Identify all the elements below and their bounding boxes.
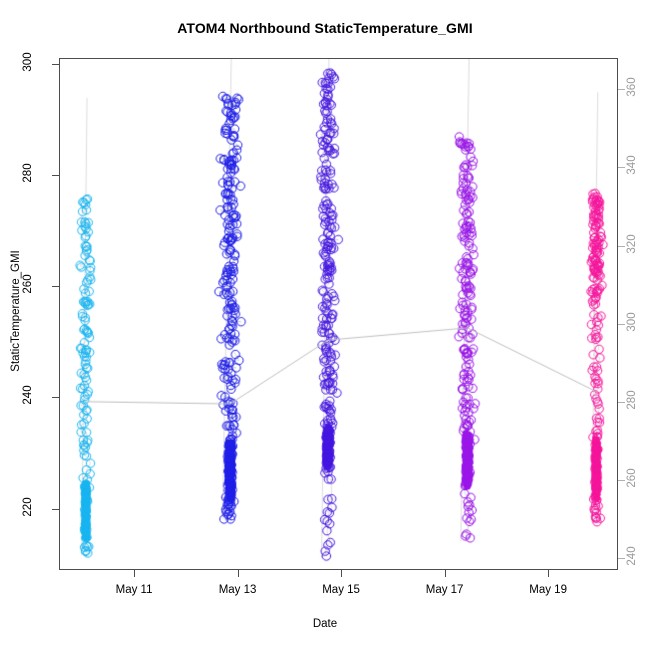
y-axis-title: StaticTemperature_GMI: [10, 211, 22, 411]
y-tick-mark-right: [618, 246, 625, 247]
y-tick-mark-right: [618, 89, 625, 90]
y-tick-mark-right: [618, 402, 625, 403]
y-tick-mark-right: [618, 480, 625, 481]
x-tick-label: May 13: [208, 584, 268, 596]
x-tick-mark: [445, 570, 446, 577]
x-tick-mark: [238, 570, 239, 577]
chart-root: ATOM4 Northbound StaticTemperature_GMI D…: [0, 0, 650, 650]
y-tick-label-right: 360: [626, 67, 638, 107]
chart-title: ATOM4 Northbound StaticTemperature_GMI: [0, 20, 650, 36]
y-tick-label: 300: [22, 42, 34, 82]
y-tick-mark: [52, 509, 59, 510]
y-tick-mark-right: [618, 167, 625, 168]
scatter-plot-canvas: [60, 59, 617, 569]
y-tick-label-right: 240: [626, 536, 638, 576]
y-tick-label-right: 300: [626, 302, 638, 342]
x-axis-title: Date: [0, 618, 650, 630]
y-tick-label: 280: [22, 153, 34, 193]
y-tick-label-right: 340: [626, 145, 638, 185]
x-tick-label: May 19: [518, 584, 578, 596]
x-tick-label: May 15: [311, 584, 371, 596]
y-tick-mark: [52, 175, 59, 176]
x-tick-mark: [548, 570, 549, 577]
y-tick-label: 240: [22, 375, 34, 415]
y-tick-mark: [52, 286, 59, 287]
y-tick-label: 260: [22, 264, 34, 304]
y-tick-label: 220: [22, 487, 34, 527]
y-tick-label-right: 320: [626, 224, 638, 264]
y-tick-mark-right: [618, 558, 625, 559]
x-tick-mark: [134, 570, 135, 577]
y-tick-label-right: 280: [626, 380, 638, 420]
x-tick-label: May 11: [104, 584, 164, 596]
y-tick-mark-right: [618, 324, 625, 325]
plot-area: [59, 58, 618, 570]
x-tick-label: May 17: [415, 584, 475, 596]
y-tick-mark: [52, 397, 59, 398]
y-tick-mark: [52, 64, 59, 65]
y-tick-label-right: 260: [626, 458, 638, 498]
x-tick-mark: [341, 570, 342, 577]
